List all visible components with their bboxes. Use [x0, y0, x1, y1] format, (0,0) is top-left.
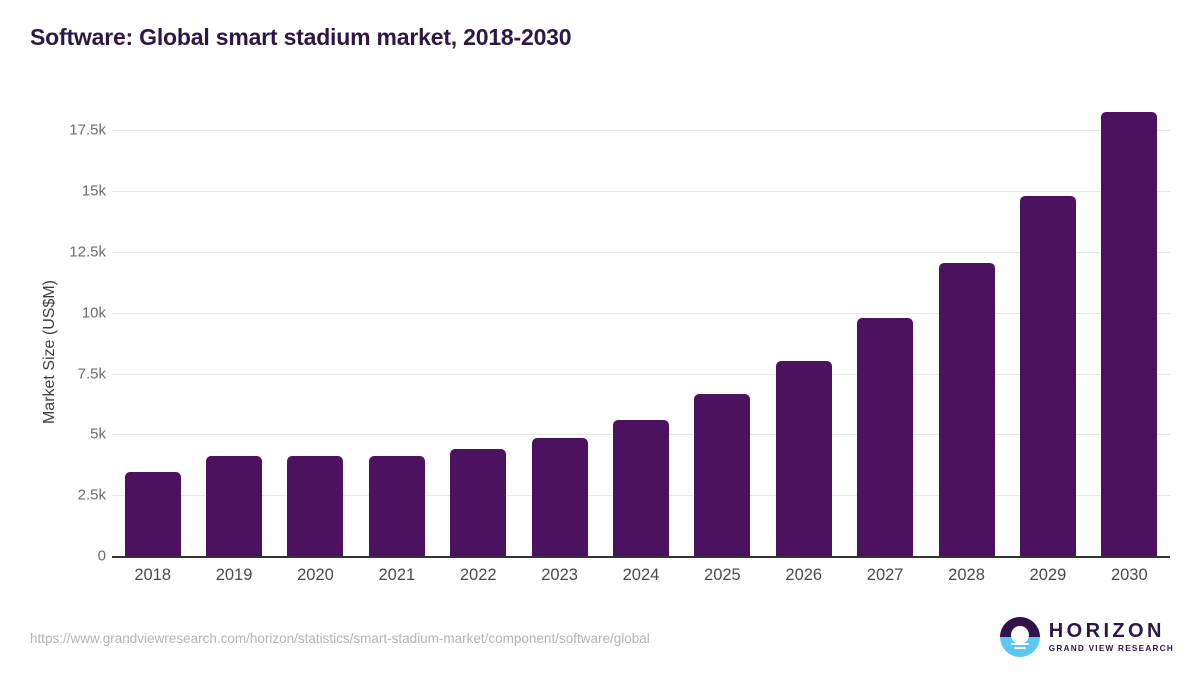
x-tick-label-2024: 2024 — [600, 566, 681, 585]
bar-2019[interactable] — [206, 456, 262, 556]
logo-subtitle: GRAND VIEW RESEARCH — [1049, 645, 1174, 653]
x-tick-label-2023: 2023 — [519, 566, 600, 585]
x-tick-label-2028: 2028 — [926, 566, 1007, 585]
y-tick-label: 2.5k — [78, 487, 106, 504]
x-tick-label-2018: 2018 — [112, 566, 193, 585]
y-tick-label: 7.5k — [78, 365, 106, 382]
y-tick-label: 15k — [82, 183, 106, 200]
x-tick-label-2030: 2030 — [1089, 566, 1170, 585]
y-tick-label: 5k — [90, 426, 106, 443]
bar-2029[interactable] — [1020, 196, 1076, 556]
y-tick-label: 17.5k — [69, 122, 106, 139]
bar-2028[interactable] — [939, 263, 995, 556]
y-tick-label: 12.5k — [69, 244, 106, 261]
footer-divider — [0, 607, 1200, 608]
x-tick-label-2020: 2020 — [275, 566, 356, 585]
bar-2027[interactable] — [857, 318, 913, 556]
source-url[interactable]: https://www.grandviewresearch.com/horizo… — [30, 631, 650, 646]
bar-2026[interactable] — [776, 361, 832, 556]
chart-plot-area: Market Size (US$M) 02.5k5k7.5k10k12.5k15… — [0, 0, 1200, 675]
y-axis-title: Market Size (US$M) — [41, 152, 59, 552]
bar-2023[interactable] — [532, 438, 588, 556]
y-tick-label: 0 — [98, 548, 106, 565]
x-tick-label-2019: 2019 — [193, 566, 274, 585]
x-tick-label-2029: 2029 — [1007, 566, 1088, 585]
bar-2024[interactable] — [613, 420, 669, 556]
x-tick-label-2026: 2026 — [763, 566, 844, 585]
y-tick-label: 10k — [82, 304, 106, 321]
bar-2018[interactable] — [125, 472, 181, 556]
bar-2020[interactable] — [287, 456, 343, 556]
x-tick-label-2025: 2025 — [682, 566, 763, 585]
bar-2025[interactable] — [694, 394, 750, 556]
horizon-logo-icon — [1000, 617, 1040, 657]
x-tick-label-2021: 2021 — [356, 566, 437, 585]
bar-2022[interactable] — [450, 449, 506, 556]
logo-text-block: HORIZON GRAND VIEW RESEARCH — [1049, 621, 1174, 653]
chart-page: Software: Global smart stadium market, 2… — [0, 0, 1200, 675]
bar-2030[interactable] — [1101, 112, 1157, 556]
logo-name: HORIZON — [1049, 621, 1174, 641]
horizon-logo[interactable]: HORIZON GRAND VIEW RESEARCH — [1000, 617, 1174, 657]
x-tick-label-2022: 2022 — [438, 566, 519, 585]
bar-2021[interactable] — [369, 456, 425, 556]
x-tick-label-2027: 2027 — [844, 566, 925, 585]
